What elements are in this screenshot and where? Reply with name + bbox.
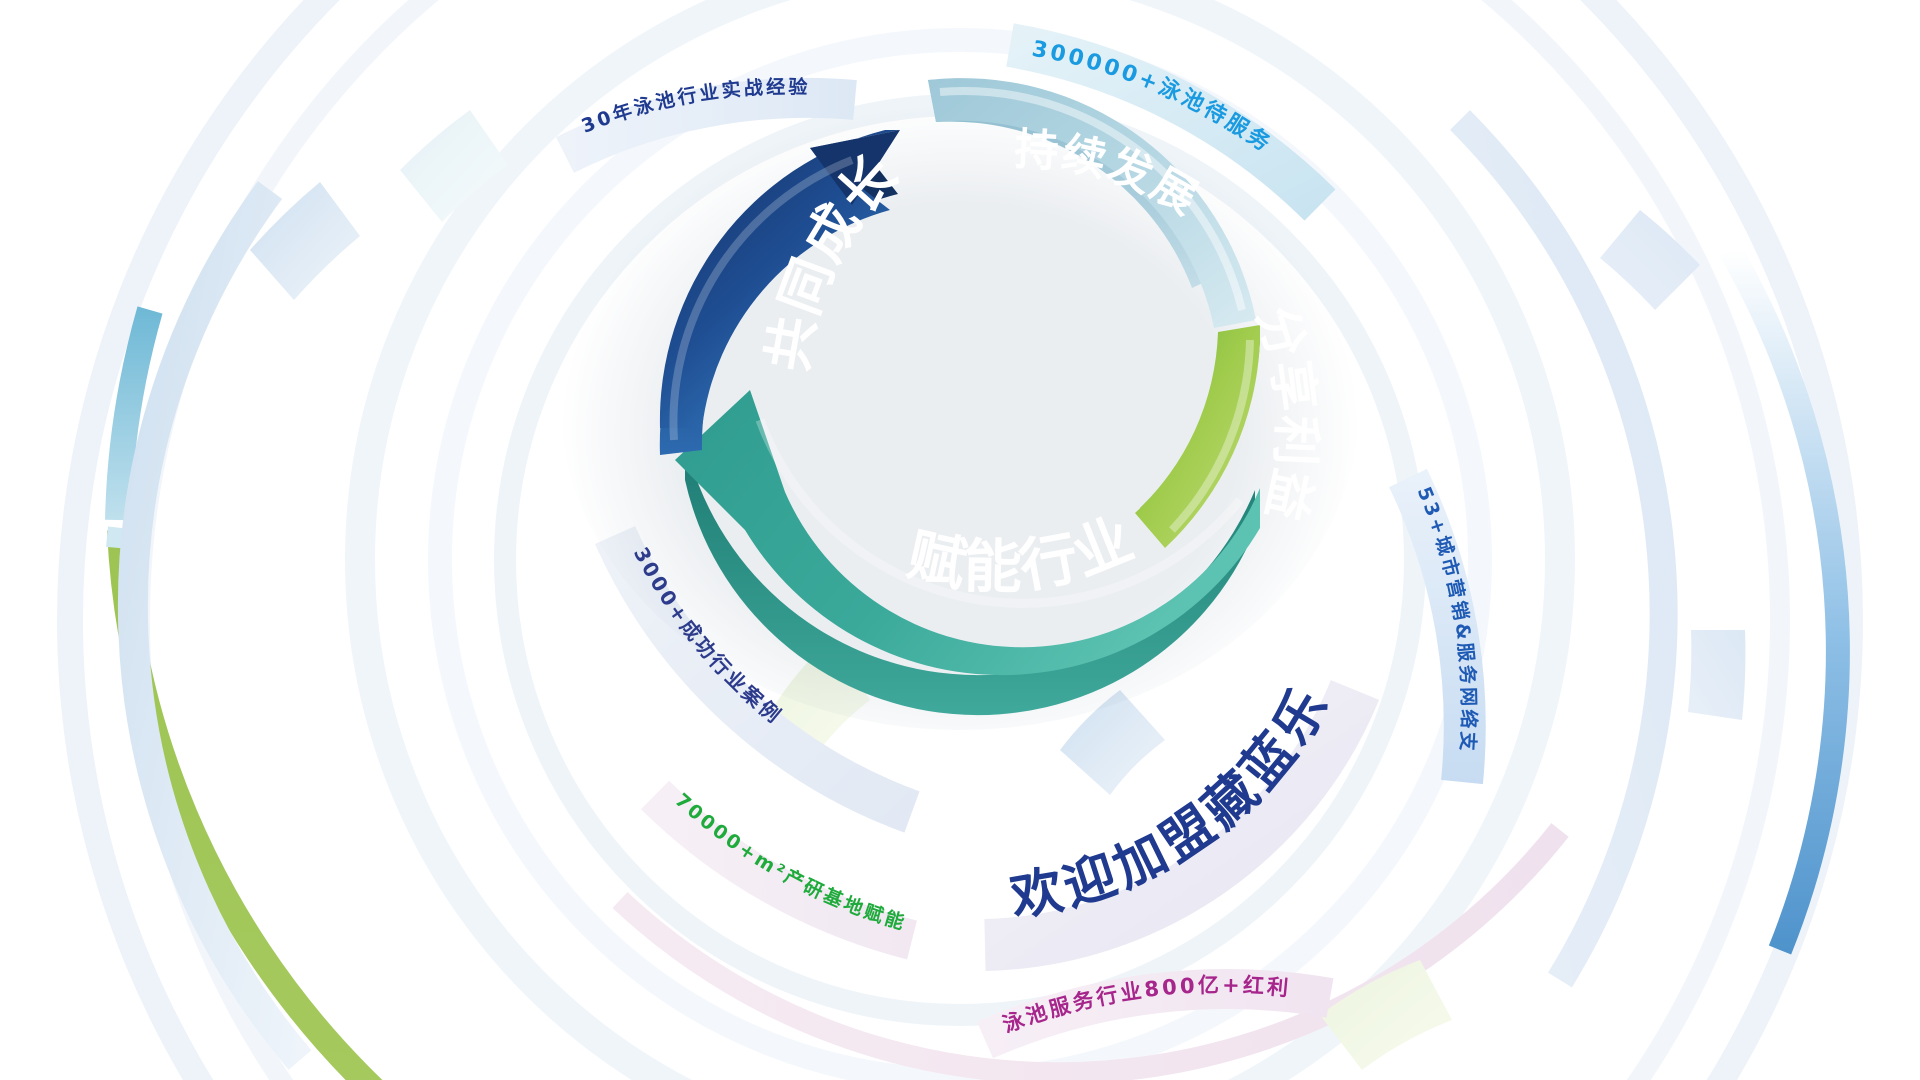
central-ring-layer: 共同成长 持续发展 分享利益 赋能行业 (0, 0, 1920, 1080)
infographic-canvas: 30年泳池行业实战经验 300000+泳池待服务 53+城市营销&服务网络支持 … (0, 0, 1920, 1080)
